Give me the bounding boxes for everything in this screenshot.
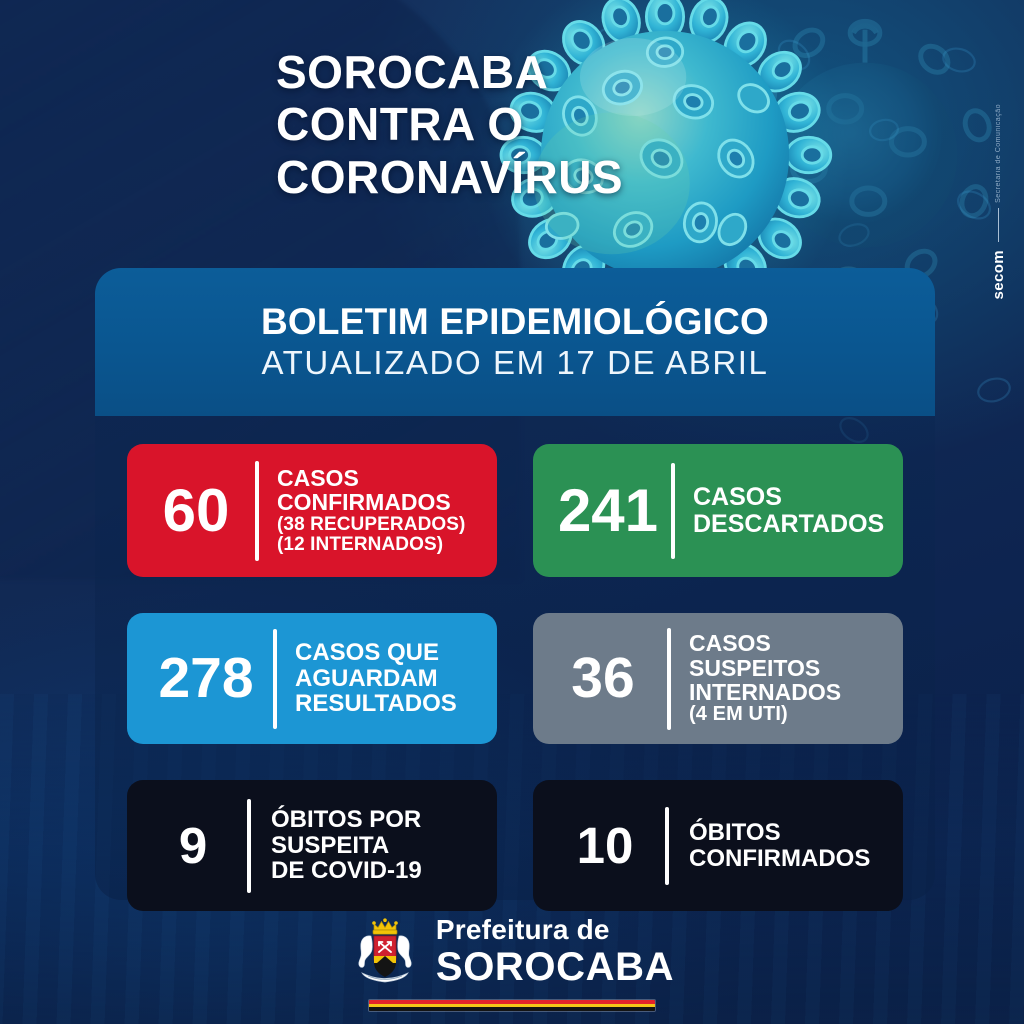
- stat-label: ÓBITOS POR SUSPEITA DE COVID-19: [271, 807, 422, 883]
- stat-label-line: SUSPEITA: [271, 833, 422, 858]
- stat-number: 10: [547, 820, 663, 871]
- stat-label-line: CASOS: [689, 631, 841, 655]
- stat-label-line: SUSPEITOS: [689, 656, 841, 680]
- footer: Prefeitura de SOROCABA: [0, 900, 1024, 1024]
- stat-label: CASOS CONFIRMADOS (38 RECUPERADOS) (12 I…: [277, 466, 465, 555]
- prefeitura-brand: Prefeitura de SOROCABA: [350, 913, 674, 989]
- stat-label-line: CONFIRMADOS: [689, 846, 870, 871]
- title-line-3: CORONAVÍRUS: [276, 151, 746, 203]
- secom-logo: Secretaria de Comunicação secom: [976, 100, 1020, 300]
- stat-card-obitos-suspeita-covid19[interactable]: 9 ÓBITOS POR SUSPEITA DE COVID-19: [127, 780, 497, 911]
- stat-divider: [671, 463, 675, 559]
- stat-number: 278: [141, 650, 271, 707]
- stat-sub-line: (38 RECUPERADOS): [277, 515, 465, 535]
- stat-card-casos-descartados[interactable]: 241 CASOS DESCARTADOS: [533, 444, 903, 577]
- brand-text: Prefeitura de SOROCABA: [436, 916, 674, 987]
- stat-label: CASOS DESCARTADOS: [693, 484, 884, 537]
- stat-label-line: AGUARDAM: [295, 666, 457, 691]
- stat-label-line: ÓBITOS: [689, 820, 870, 845]
- stat-divider: [665, 807, 669, 885]
- stat-number: 36: [547, 650, 659, 707]
- stat-label: ÓBITOS CONFIRMADOS: [689, 820, 870, 871]
- stat-divider: [247, 799, 251, 893]
- secom-divider: [998, 208, 999, 242]
- stats-grid: 60 CASOS CONFIRMADOS (38 RECUPERADOS) (1…: [127, 444, 903, 911]
- stat-divider: [667, 628, 671, 730]
- title-line-1: SOROCABA: [276, 46, 746, 98]
- stat-label-line: CASOS QUE: [295, 640, 457, 665]
- stat-sub-line: (12 INTERNADOS): [277, 535, 465, 555]
- stat-label-line: CASOS: [693, 484, 884, 511]
- stat-label-line: CONFIRMADOS: [277, 490, 465, 514]
- brand-bottom-line: SOROCABA: [436, 947, 674, 987]
- stat-card-obitos-confirmados[interactable]: 10 ÓBITOS CONFIRMADOS: [533, 780, 903, 911]
- stat-number: 241: [547, 481, 669, 541]
- stat-number: 60: [141, 481, 251, 541]
- sorocaba-coat-of-arms-icon: [350, 913, 420, 989]
- stat-card-casos-confirmados[interactable]: 60 CASOS CONFIRMADOS (38 RECUPERADOS) (1…: [127, 444, 497, 577]
- secom-subtitle: Secretaria de Comunicação: [995, 104, 1002, 203]
- content-panel: BOLETIM EPIDEMIOLÓGICO ATUALIZADO EM 17 …: [95, 268, 935, 900]
- stat-card-casos-aguardam-resultados[interactable]: 278 CASOS QUE AGUARDAM RESULTADOS: [127, 613, 497, 744]
- stat-card-casos-suspeitos-internados[interactable]: 36 CASOS SUSPEITOS INTERNADOS (4 EM UTI): [533, 613, 903, 744]
- bulletin-banner: BOLETIM EPIDEMIOLÓGICO ATUALIZADO EM 17 …: [95, 268, 935, 416]
- stat-label-line: ÓBITOS POR: [271, 807, 422, 832]
- stat-label-line: RESULTADOS: [295, 691, 457, 716]
- title-line-2: CONTRA O: [276, 98, 746, 150]
- bulletin-heading: BOLETIM EPIDEMIOLÓGICO: [261, 303, 769, 342]
- infographic-poster: Secretaria de Comunicação secom SOROCABA…: [0, 0, 1024, 1024]
- stat-label-line: INTERNADOS: [689, 680, 841, 704]
- bulletin-subheading: ATUALIZADO EM 17 DE ABRIL: [261, 346, 768, 381]
- stat-label: CASOS QUE AGUARDAM RESULTADOS: [295, 640, 457, 716]
- brand-stripe: [369, 1000, 655, 1011]
- stat-sub-line: (4 EM UTI): [689, 704, 841, 725]
- stat-divider: [273, 629, 277, 729]
- stat-label-line: DE COVID-19: [271, 858, 422, 883]
- secom-name: secom: [990, 250, 1007, 300]
- stat-divider: [255, 461, 259, 561]
- stat-label: CASOS SUSPEITOS INTERNADOS (4 EM UTI): [689, 631, 841, 725]
- stripe-black: [369, 1007, 655, 1011]
- stat-label-line: DESCARTADOS: [693, 511, 884, 538]
- brand-top-line: Prefeitura de: [436, 916, 674, 944]
- stat-number: 9: [141, 820, 245, 871]
- poster-title: SOROCABA CONTRA O CORONAVÍRUS: [276, 46, 746, 203]
- stat-label-line: CASOS: [277, 466, 465, 490]
